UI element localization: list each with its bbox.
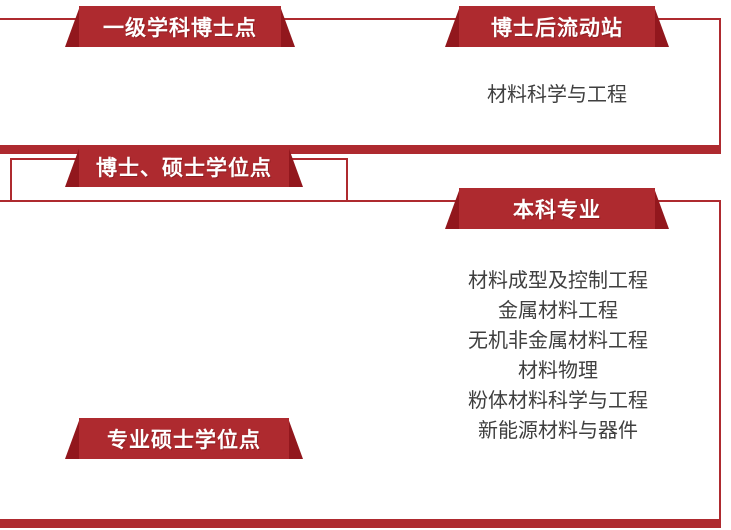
card-ribbon-banner: 本科专业 (445, 188, 669, 229)
ribbon-fold-right-icon (654, 6, 669, 47)
list-item: 材料成型及控制工程 (420, 266, 696, 296)
ribbon-body: 专业硕士学位点 (79, 418, 289, 459)
card-ribbon-banner: 一级学科博士点 (65, 6, 295, 47)
ribbon-fold-right-icon (280, 6, 295, 47)
ribbon-fold-left-icon (65, 418, 80, 459)
ribbon-fold-left-icon (445, 6, 460, 47)
ribbon-body: 博士、硕士学位点 (79, 146, 289, 187)
card-title: 本科专业 (513, 194, 601, 224)
card-title: 一级学科博士点 (103, 12, 257, 42)
card-title: 博士、硕士学位点 (96, 152, 272, 182)
card-ribbon-banner: 博士后流动站 (445, 6, 669, 47)
card-title: 专业硕士学位点 (107, 424, 261, 454)
ribbon-body: 一级学科博士点 (79, 6, 281, 47)
card-bottom-bar (0, 519, 721, 528)
list-item: 金属材料工程 (420, 296, 696, 326)
list-item: 材料科学与工程 (445, 80, 669, 110)
ribbon-body: 本科专业 (459, 188, 655, 229)
card-entry-list: 材料科学与工程 (445, 80, 669, 110)
ribbon-fold-right-icon (288, 146, 303, 187)
list-item: 粉体材料科学与工程 (420, 386, 696, 416)
ribbon-fold-left-icon (65, 146, 80, 187)
card-undergraduate: 本科专业 材料成型及控制工程 金属材料工程 无机非金属材料工程 材料物理 粉体材… (0, 200, 721, 528)
list-item: 新能源材料与器件 (420, 416, 696, 446)
card-ribbon-banner: 博士、硕士学位点 (65, 146, 303, 187)
ribbon-fold-left-icon (65, 6, 80, 47)
card-title: 博士后流动站 (491, 12, 623, 42)
ribbon-fold-right-icon (288, 418, 303, 459)
list-item: 材料物理 (420, 356, 696, 386)
list-item: 无机非金属材料工程 (420, 326, 696, 356)
ribbon-fold-left-icon (445, 188, 460, 229)
card-entry-list: 材料成型及控制工程 金属材料工程 无机非金属材料工程 材料物理 粉体材料科学与工… (420, 266, 696, 446)
ribbon-fold-right-icon (654, 188, 669, 229)
ribbon-body: 博士后流动站 (459, 6, 655, 47)
card-ribbon-banner: 专业硕士学位点 (65, 418, 303, 459)
